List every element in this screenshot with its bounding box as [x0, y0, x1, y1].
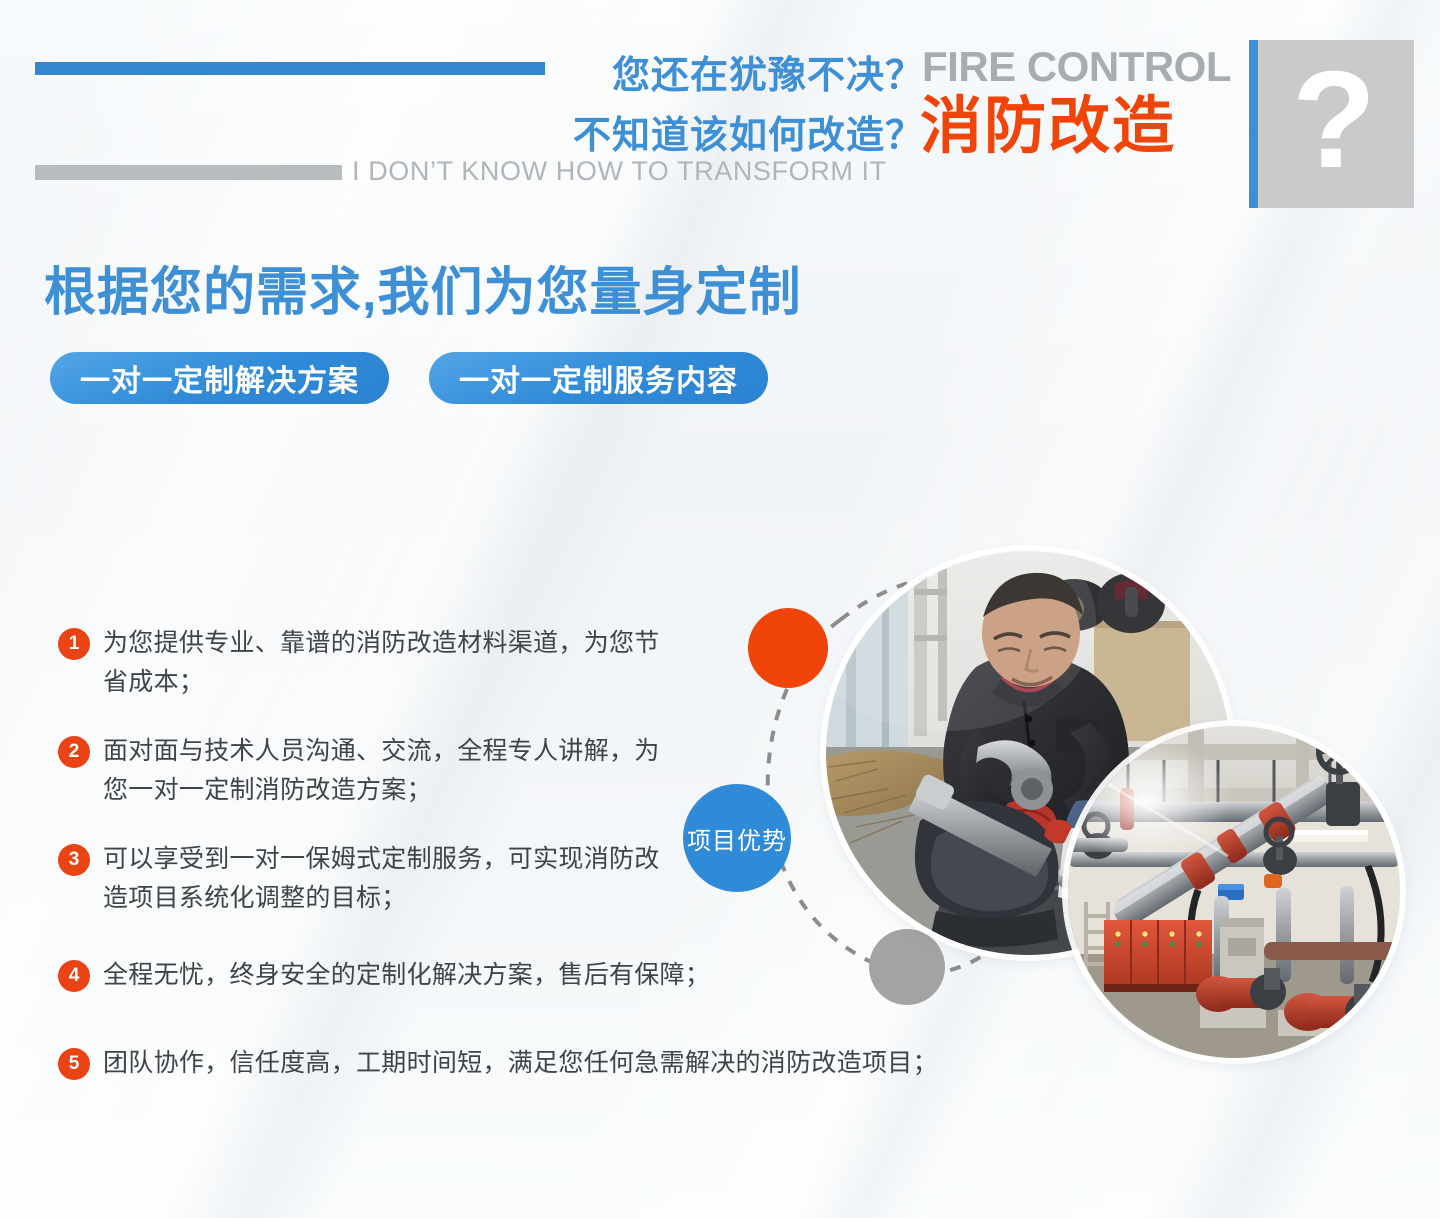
header-question-line-2: 不知道该如何改造？ [573, 104, 924, 159]
pill-custom-service[interactable]: 一对一定制服务内容 [429, 352, 768, 404]
question-mark-icon: ? [1292, 51, 1376, 189]
list-item-text: 可以享受到一对一保姆式定制服务，可实现消防改造项目系统化调整的目标； [103, 840, 678, 918]
list-item: 5 团队协作，信任度高，工期时间短，满足您任何急需解决的消防改造项目； [58, 1044, 1058, 1083]
gray-rule-divider [35, 165, 342, 180]
page-title: 根据您的需求,我们为您量身定制 [44, 250, 801, 325]
list-item-text: 面对面与技术人员沟通、交流，全程专人讲解，为您一对一定制消防改造方案； [103, 732, 678, 810]
list-item-text: 团队协作，信任度高，工期时间短，满足您任何急需解决的消防改造项目； [103, 1044, 938, 1083]
number-badge: 5 [58, 1048, 90, 1080]
blue-rule-divider [35, 62, 545, 75]
photo-fire-pump-room [1068, 726, 1400, 1058]
list-item-text: 全程无忧，终身安全的定制化解决方案，售后有保障； [103, 956, 710, 995]
header-english-subtitle: I DON’T KNOW HOW TO TRANSFORM IT [352, 156, 887, 187]
list-item-text: 为您提供专业、靠谱的消防改造材料渠道，为您节省成本； [103, 624, 678, 702]
list-item: 2 面对面与技术人员沟通、交流，全程专人讲解，为您一对一定制消防改造方案； [58, 732, 678, 810]
gray-dot-decoration [869, 929, 945, 1005]
number-badge: 3 [58, 844, 90, 876]
list-item: 1 为您提供专业、靠谱的消防改造材料渠道，为您节省成本； [58, 624, 678, 702]
question-mark-box: ? [1249, 40, 1414, 208]
project-advantage-badge: 项目优势 [683, 784, 791, 892]
project-advantage-badge-label: 项目优势 [687, 821, 787, 856]
pill-custom-solution[interactable]: 一对一定制解决方案 [50, 352, 389, 404]
promo-page: 您还在犹豫不决？ 不知道该如何改造？ I DON’T KNOW HOW TO T… [0, 0, 1440, 1218]
brand-english-label: FIRE CONTROL [922, 43, 1231, 91]
number-badge: 1 [58, 628, 90, 660]
number-badge: 4 [58, 960, 90, 992]
number-badge: 2 [58, 736, 90, 768]
header-band: 您还在犹豫不决？ 不知道该如何改造？ I DON’T KNOW HOW TO T… [0, 0, 1440, 215]
pill-button-row: 一对一定制解决方案 一对一定制服务内容 [50, 352, 768, 404]
brand-chinese-label: 消防改造 [920, 96, 1176, 158]
header-question-line-1: 您还在犹豫不决？ [612, 44, 924, 99]
orange-dot-decoration [748, 608, 828, 688]
list-item: 3 可以享受到一对一保姆式定制服务，可实现消防改造项目系统化调整的目标； [58, 840, 678, 918]
